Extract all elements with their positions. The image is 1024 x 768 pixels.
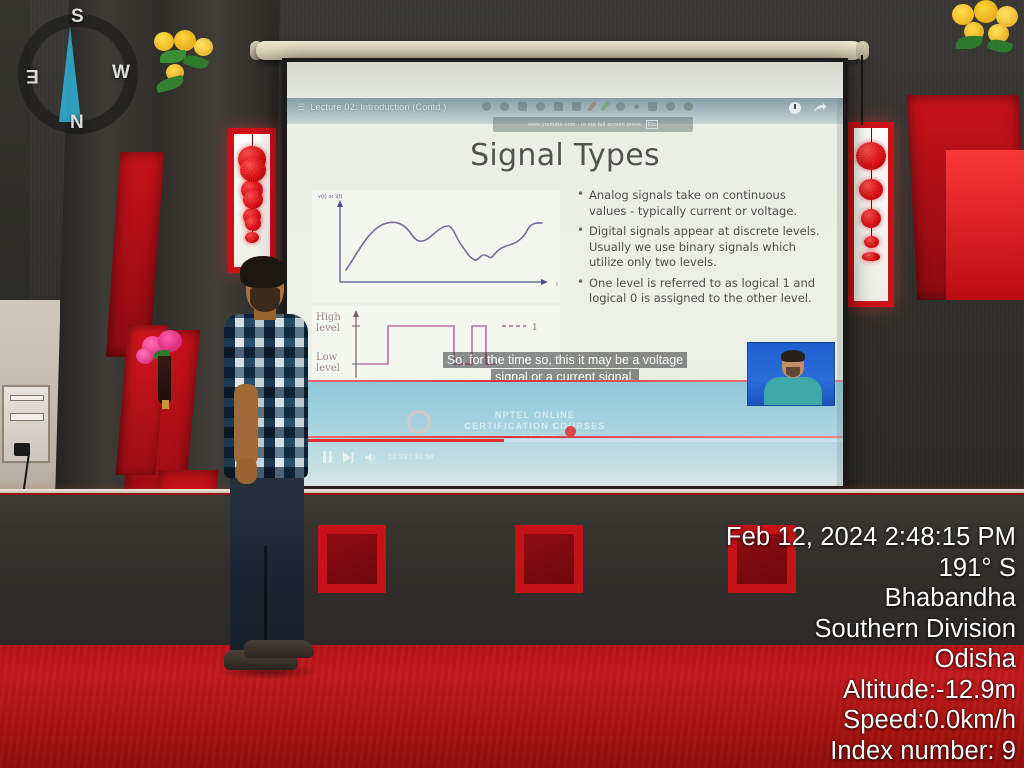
gps-state: Odisha bbox=[596, 644, 1016, 675]
compass-label-left: E bbox=[26, 64, 39, 86]
gps-division: Southern Division bbox=[596, 614, 1016, 645]
hand-icon[interactable] bbox=[500, 102, 509, 111]
history-clock-icon[interactable] bbox=[789, 102, 801, 114]
person-arm bbox=[234, 384, 258, 466]
eraser-icon[interactable] bbox=[616, 102, 625, 111]
video-time-display: 12:33 / 31:59 bbox=[388, 454, 434, 461]
compass-label-right: W bbox=[112, 62, 130, 84]
red-niche-right-inner bbox=[946, 150, 1024, 300]
svg-text:1: 1 bbox=[532, 323, 538, 333]
nptel-line-2: CERTIFICATION COURSES bbox=[405, 421, 665, 432]
dot-icon[interactable] bbox=[634, 104, 639, 109]
electrical-panel bbox=[2, 385, 50, 463]
projector-scan-line-bottom bbox=[287, 436, 843, 438]
panel-meter bbox=[10, 395, 44, 401]
list-item: Analog signals take on continuous values… bbox=[575, 188, 823, 219]
video-control-bar[interactable]: 12:33 / 31:59 bbox=[287, 444, 843, 470]
url-tooltip-text: www.youtube.com - to not full screen pre… bbox=[528, 122, 641, 128]
classroom-photo-scene: ☰Lecture 02: Introduction (Contd.) www.y… bbox=[0, 0, 1024, 768]
person-leg-seam bbox=[264, 546, 267, 652]
pause-button[interactable] bbox=[323, 451, 332, 463]
presenter-torso bbox=[764, 377, 822, 406]
undo-icon[interactable] bbox=[572, 102, 581, 111]
pink-flower-arrangement bbox=[128, 330, 198, 390]
share-arrow-icon[interactable] bbox=[813, 102, 827, 114]
video-title: ☰Lecture 02: Introduction (Contd.) bbox=[297, 102, 446, 113]
compass-needle bbox=[59, 26, 81, 122]
analog-y-axis-label: v(t) or i(t) bbox=[318, 194, 343, 200]
zoom-icon[interactable] bbox=[648, 102, 657, 111]
presenter-video-thumbnail[interactable] bbox=[747, 342, 835, 406]
gps-stamp-overlay: Feb 12, 2024 2:48:15 PM 191° S Bhabandha… bbox=[596, 522, 1016, 766]
compass-label-top: S bbox=[71, 6, 84, 28]
person-jeans bbox=[230, 470, 304, 652]
caption-line-1: So, for the time so, this it may be a vo… bbox=[443, 352, 687, 368]
gps-place: Bhabandha bbox=[596, 583, 1016, 614]
close-icon[interactable] bbox=[684, 102, 693, 111]
lit-niche-right bbox=[848, 122, 894, 307]
gps-altitude: Altitude:-12.9m bbox=[596, 675, 1016, 706]
presenter-beard bbox=[786, 367, 800, 377]
person-standing bbox=[212, 256, 324, 700]
analog-waveform-svg bbox=[312, 190, 560, 302]
gps-bearing: 191° S bbox=[596, 553, 1016, 584]
list-item: Digital signals appear at discrete level… bbox=[575, 224, 823, 271]
esc-key-chip: Esc bbox=[646, 120, 658, 129]
settings-icon[interactable] bbox=[666, 102, 675, 111]
video-progress-bar[interactable] bbox=[287, 439, 843, 442]
person-beard bbox=[250, 288, 280, 312]
slide-bullet-list: Analog signals take on continuous values… bbox=[575, 188, 823, 312]
projector-screen: ☰Lecture 02: Introduction (Contd.) www.y… bbox=[287, 62, 843, 486]
stage-recess-1 bbox=[318, 525, 386, 593]
video-title-text: Lecture 02: Introduction (Contd.) bbox=[310, 102, 446, 112]
analog-x-axis-label: t bbox=[556, 282, 558, 288]
arrow-icon[interactable] bbox=[554, 102, 563, 111]
compass-widget: S N E W bbox=[8, 4, 148, 144]
annotation-toolbar[interactable] bbox=[482, 98, 732, 114]
highlighter-icon[interactable] bbox=[600, 101, 610, 112]
person-hair bbox=[240, 256, 286, 288]
pen-icon[interactable] bbox=[587, 101, 597, 112]
text-icon[interactable] bbox=[518, 102, 527, 111]
stage-recess-2 bbox=[515, 525, 583, 593]
shape-icon[interactable] bbox=[536, 102, 545, 111]
menu-icon[interactable]: ☰ bbox=[297, 102, 305, 113]
cursor-icon[interactable] bbox=[482, 102, 491, 111]
gps-datetime: Feb 12, 2024 2:48:15 PM bbox=[596, 522, 1016, 553]
person-sandal-right bbox=[244, 640, 314, 658]
nptel-line-1: NPTEL ONLINE bbox=[405, 410, 665, 421]
next-button[interactable] bbox=[343, 452, 354, 463]
analog-signal-graph: v(t) or i(t) t bbox=[312, 190, 560, 302]
volume-button[interactable] bbox=[365, 452, 377, 463]
gps-index: Index number: 9 bbox=[596, 736, 1016, 767]
url-tooltip: www.youtube.com - to not full screen pre… bbox=[493, 117, 693, 132]
slide-title: Signal Types bbox=[287, 138, 843, 173]
yellow-flower-cluster-right bbox=[950, 0, 1024, 60]
yellow-flower-cluster-left bbox=[150, 30, 226, 110]
gps-speed: Speed:0.0km/h bbox=[596, 705, 1016, 736]
page-scrollbar[interactable] bbox=[837, 98, 843, 486]
panel-switch-row bbox=[10, 413, 44, 421]
list-item: One level is referred to as logical 1 an… bbox=[575, 276, 823, 307]
compass-label-bottom: N bbox=[70, 112, 84, 134]
presenter-hair bbox=[781, 350, 805, 362]
roller-wire bbox=[861, 55, 863, 125]
person-hand bbox=[236, 458, 257, 484]
